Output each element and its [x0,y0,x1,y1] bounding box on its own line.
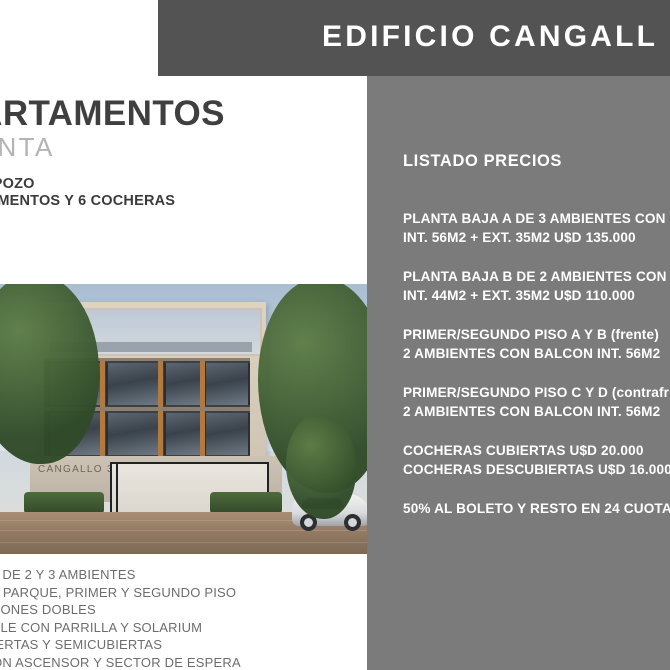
price-group: PLANTA BAJA A DE 3 AMBIENTES CON INT. 56… [403,210,670,247]
car-wheel [344,514,361,531]
price-list-title: LISTADO PRECIOS [403,152,562,171]
window-glass [106,363,162,405]
kicker-line: EN POZO [0,176,367,193]
tree-foliage [286,414,356,519]
price-line: PLANTA BAJA B DE 2 AMBIENTES CON [403,268,670,287]
kicker-block: EN POZO RTAMENTOS Y 6 COCHERAS [0,176,367,210]
window-mullion [100,411,105,457]
window-glass [106,413,162,455]
kicker-line: RTAMENTOS Y 6 COCHERAS [0,193,367,210]
hedge [24,492,104,514]
price-group: PRIMER/SEGUNDO PISO A Y B (frente) 2 AMB… [403,326,670,363]
window-mullion [158,361,163,407]
address-sign: CANGALLO 34 [38,464,121,475]
price-group: PRIMER/SEGUNDO PISO C Y D (contrafr 2 AM… [403,384,670,421]
window-mullion [200,361,205,407]
hedge [210,492,282,514]
price-line: PRIMER/SEGUNDO PISO A Y B (frente) [403,326,670,345]
price-list-groups: PLANTA BAJA A DE 3 AMBIENTES CON INT. 56… [403,210,670,540]
feature-item: MENTOS DE 2 Y 3 AMBIENTES [0,566,367,584]
price-line: INT. 56M2 + EXT. 35M2 U$D 135.000 [403,229,670,248]
building-render-image: CANGALLO 34 [0,284,367,554]
feature-item: OBBY CON ASCENSOR Y SECTOR DE ESPERA [0,654,367,670]
price-group: COCHERAS CUBIERTAS U$D 20.000 COCHERAS D… [403,442,670,479]
price-group: 50% AL BOLETO Y RESTO EN 24 CUOTAS [403,500,670,519]
price-line: 2 AMBIENTES CON BALCON INT. 56M2 [403,403,670,422]
window-glass [204,413,250,455]
page-title: EDIFICIO CANGALL [322,17,658,57]
feature-list: MENTOS DE 2 Y 3 AMBIENTES AJA CON PARQUE… [0,566,367,670]
price-line: COCHERAS CUBIERTAS U$D 20.000 [403,442,670,461]
window-glass [164,363,204,405]
window-mullion [200,411,205,457]
subheadline: VENTA [0,132,55,162]
price-line: COCHERAS DESCUBIERTAS U$D 16.000 [403,461,670,480]
price-group: PLANTA BAJA B DE 2 AMBIENTES CON INT. 44… [403,268,670,305]
window-mullion [100,361,105,407]
window-glass [164,413,204,455]
slide-root: EDIFICIO CANGALL PARTAMENTOS VENTA EN PO… [0,0,670,670]
feature-item: ON BALCONES DOBLES [0,601,367,619]
headline: PARTAMENTOS [0,94,225,134]
price-line: INT. 44M2 + EXT. 35M2 U$D 110.000 [403,287,670,306]
left-column: PARTAMENTOS VENTA EN POZO RTAMENTOS Y 6 … [0,76,367,670]
feature-item: AS CUBIERTAS Y SEMICUBIERTAS [0,636,367,654]
price-line: PRIMER/SEGUNDO PISO C Y D (contrafr [403,384,670,403]
window-glass [204,363,250,405]
price-list-panel: LISTADO PRECIOS PLANTA BAJA A DE 3 AMBIE… [367,76,670,670]
window-mullion [158,411,163,457]
feature-item: AJA CON PARQUE, PRIMER Y SEGUNDO PISO [0,584,367,602]
price-line: 50% AL BOLETO Y RESTO EN 24 CUOTAS [403,500,670,519]
feature-item: ACCESIBLE CON PARRILLA Y SOLARIUM [0,619,367,637]
price-line: PLANTA BAJA A DE 3 AMBIENTES CON [403,210,670,229]
header-band: EDIFICIO CANGALL [158,0,670,76]
price-line: 2 AMBIENTES CON BALCON INT. 56M2 [403,345,670,364]
